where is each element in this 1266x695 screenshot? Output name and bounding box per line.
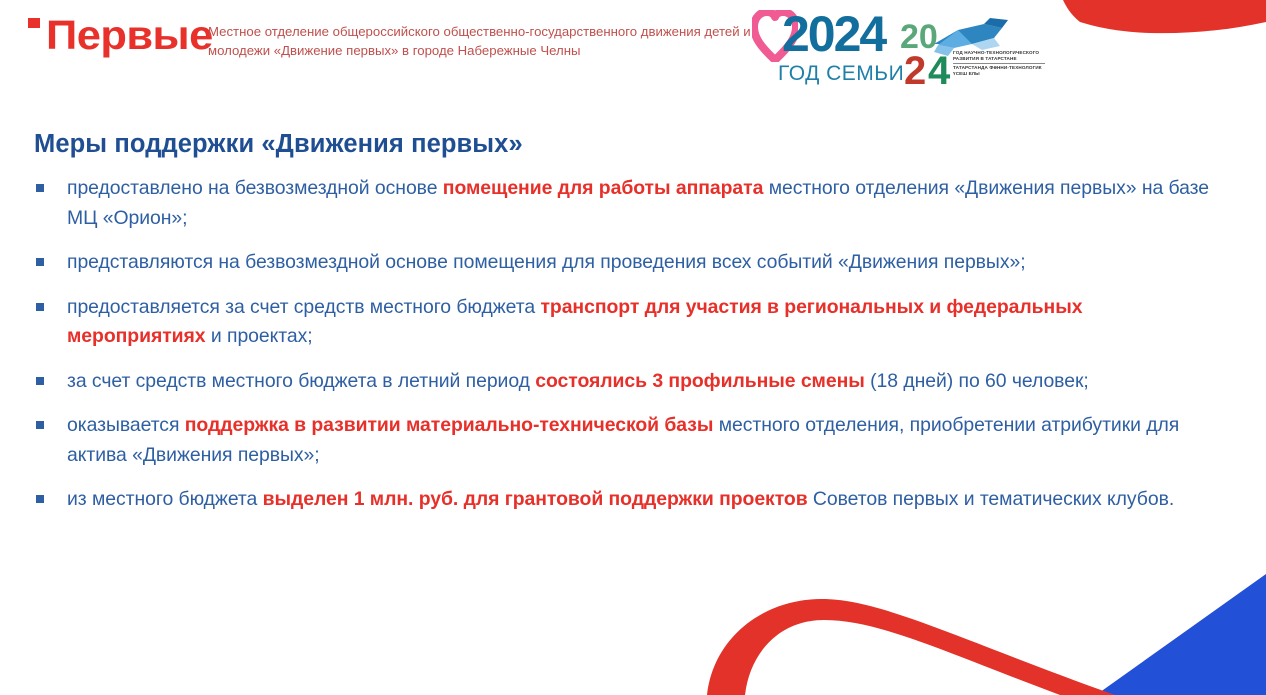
bullet-square-icon [36,184,44,192]
bottom-red-arc [707,599,1115,695]
brand-logo: Первые [28,14,203,56]
bullet-square-icon [36,303,44,311]
support-measures-list: предоставлено на безвозмездной основе по… [36,174,1221,530]
tatarstan-logo-caption: ГОД НАУЧНО-ТЕХНОЛОГИЧЕСКОГО РАЗВИТИЯ В Т… [953,50,1049,77]
bullet-text: из местного бюджета выделен 1 млн. руб. … [67,485,1221,515]
slide-header: Первые Местное отделение общероссийского… [0,0,1266,96]
bullet-text: за счет средств местного бюджета в летни… [67,367,1221,397]
plain-phrase: из местного бюджета [67,488,263,510]
plain-phrase: оказывается [67,414,185,436]
bullet-square-icon [36,495,44,503]
bullet-grant: из местного бюджета выделен 1 млн. руб. … [36,485,1221,515]
bullet-square-icon [36,421,44,429]
organization-caption: Местное отделение общероссийского общест… [208,22,753,60]
plain-phrase: предоставляется за счет средств местного… [67,296,540,318]
bullet-square-icon [36,258,44,266]
tatarstan-caption-line-4: ҮСЕШ ЕЛЫ [953,71,1049,77]
highlighted-phrase: состоялись 3 профильные смены [535,370,865,392]
bullet-square-icon [36,377,44,385]
tatarstan-caption-line-2: РАЗВИТИЯ В ТАТАРСТАНЕ [953,56,1049,62]
plain-phrase: Советов первых и тематических клубов. [808,488,1175,510]
plain-phrase: представляются на безвозмездной основе п… [67,251,1026,273]
tatarstan-caption-divider [953,63,1045,64]
bullet-summer-shifts: за счет средств местного бюджета в летни… [36,367,1221,397]
tatarstan-science-year-logo: 20 2 4 ГОД НАУЧНО-ТЕХНОЛОГИЧЕСКОГО РАЗВИ… [898,14,1048,90]
bullet-event-venues: представляются на безвозмездной основе п… [36,248,1221,278]
year-of-family-subtitle: ГОД СЕМЬИ [778,62,904,85]
presentation-slide: Первые Местное отделение общероссийского… [0,0,1266,695]
highlighted-phrase: выделен 1 млн. руб. для грантовой поддер… [263,488,808,510]
bullet-transport: предоставляется за счет средств местного… [36,293,1221,352]
year-of-family-logo: 2024 ГОД СЕМЬИ [752,6,892,90]
bullet-text: предоставлено на безвозмездной основе по… [67,174,1221,233]
year-number: 2024 [782,8,885,60]
plain-phrase: предоставлено на безвозмездной основе [67,177,443,199]
brand-name: Первые [46,14,213,56]
bullet-text: представляются на безвозмездной основе п… [67,248,1221,278]
slide-title: Меры поддержки «Движения первых» [34,128,523,160]
bullet-premises: предоставлено на безвозмездной основе по… [36,174,1221,233]
plain-phrase: (18 дней) по 60 человек; [865,370,1089,392]
bullet-material-base: оказывается поддержка в развитии материа… [36,411,1221,470]
brand-accent-bar [28,18,40,28]
highlighted-phrase: помещение для работы аппарата [443,177,764,199]
bullet-text: предоставляется за счет средств местного… [67,293,1221,352]
svg-text:2: 2 [904,49,926,90]
bullet-text: оказывается поддержка в развитии материа… [67,411,1221,470]
bottom-right-blue-wedge [1096,574,1266,695]
highlighted-phrase: поддержка в развитии материально-техниче… [185,414,714,436]
plain-phrase: и проектах; [206,325,313,347]
plain-phrase: за счет средств местного бюджета в летни… [67,370,535,392]
